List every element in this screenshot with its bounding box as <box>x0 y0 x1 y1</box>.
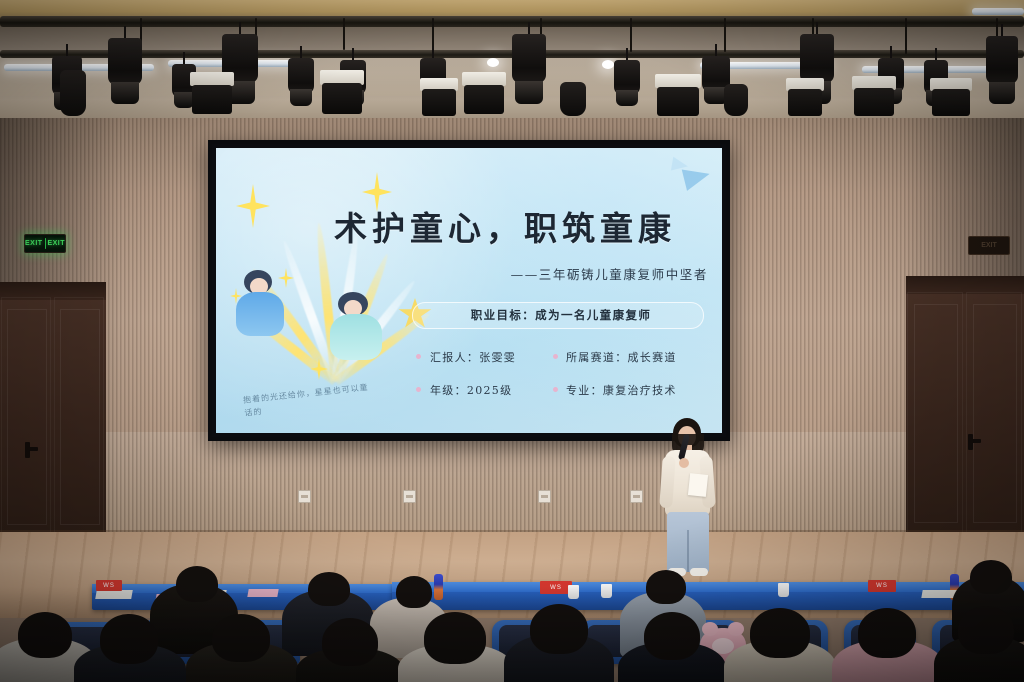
strip-light-5 <box>972 8 1024 15</box>
exit-sign-text: EXIT <box>981 242 997 249</box>
document-paper <box>95 590 133 599</box>
lower-wall-panel <box>0 432 1024 536</box>
exit-sign-text: EXIT <box>25 240 43 247</box>
audience-head <box>424 612 486 664</box>
running-man-icon <box>45 238 46 249</box>
exit-sign-right: EXIT <box>968 236 1010 255</box>
par-light <box>724 84 748 116</box>
paper-cup <box>601 584 612 598</box>
audience-head <box>100 614 158 664</box>
meta-presenter: 汇报人：张雯雯 <box>430 349 516 365</box>
child-illustration-right <box>326 292 388 366</box>
wall-outlet <box>298 490 311 503</box>
meta-major: 专业：康复治疗技术 <box>566 382 677 398</box>
audience-head <box>18 612 72 658</box>
audience-area: WS WS WS <box>0 556 1024 682</box>
hanging-cable <box>630 18 632 52</box>
bullet-dot <box>553 354 558 359</box>
projection-screen: 抱着的光还给你，星星也可以童话的 术护童心，职筑童康 ——三年砺铸儿童康复师中坚… <box>208 140 730 441</box>
audience-head <box>530 604 588 654</box>
exit-sign-left: EXIT EXIT <box>24 234 66 253</box>
fresnel-light <box>420 78 458 116</box>
par-light <box>560 82 586 116</box>
fresnel-light <box>462 72 506 114</box>
slide-subtitle: ——三年砺铸儿童康复师中坚者 <box>396 264 708 283</box>
audience-head <box>396 576 432 608</box>
downlight-2 <box>602 60 614 69</box>
presentation-slide: 抱着的光还给你，星星也可以童话的 术护童心，职筑童康 ——三年砺铸儿童康复师中坚… <box>216 148 722 433</box>
wall-outlet <box>538 490 551 503</box>
auditorium-scene: EXIT EXIT EXIT <box>0 0 1024 682</box>
meta-track: 所属赛道：成长赛道 <box>566 349 677 365</box>
name-card-red: WS <box>868 580 896 592</box>
fresnel-light <box>655 74 701 116</box>
ceiling <box>0 0 1024 122</box>
bullet-dot <box>553 387 558 392</box>
audience-head <box>646 570 686 604</box>
paper-cup <box>778 583 789 597</box>
stage-lamp <box>108 26 142 104</box>
name-card-red: WS <box>96 580 122 591</box>
fresnel-light <box>190 72 234 114</box>
career-goal-text: 职业目标：成为一名儿童康复师 <box>432 307 690 323</box>
fresnel-light <box>786 78 824 116</box>
slide-title: 术护童心，职筑童康 <box>300 202 710 250</box>
child-illustration-left <box>234 270 290 340</box>
downlight-1 <box>487 58 499 67</box>
audience-head <box>176 566 218 602</box>
audience-head <box>212 614 270 662</box>
par-light <box>60 70 86 116</box>
exit-sign-text: EXIT <box>47 240 65 247</box>
door-handle-right[interactable] <box>968 434 973 450</box>
wall-outlet <box>630 490 643 503</box>
door-right[interactable] <box>906 276 1024 538</box>
stage-lamp <box>614 48 640 106</box>
bullet-dot <box>416 387 421 392</box>
document-paper <box>247 589 278 597</box>
water-bottle <box>434 574 443 600</box>
audience-head <box>958 606 1014 654</box>
bullet-dot <box>416 354 421 359</box>
wall-outlet <box>403 490 416 503</box>
paper-plane-icon <box>671 157 689 174</box>
audience-head <box>644 612 700 660</box>
fresnel-light <box>930 78 972 116</box>
audience-head <box>322 618 378 666</box>
audience-head <box>750 608 810 658</box>
door-left[interactable] <box>0 282 106 540</box>
paper-cup <box>568 585 579 599</box>
presenter-notes <box>688 473 708 497</box>
presenter <box>655 418 721 578</box>
audience-head <box>858 608 916 658</box>
fresnel-light <box>320 70 364 114</box>
audience-head <box>970 560 1012 594</box>
hanging-cable <box>343 18 345 50</box>
stage-lamp <box>512 22 546 104</box>
meta-grade: 年级：2025级 <box>430 382 512 398</box>
stage-lamp <box>986 24 1018 104</box>
stage-lamp <box>288 46 314 106</box>
document-paper <box>921 590 956 598</box>
fresnel-light <box>852 76 896 116</box>
hanging-cable <box>905 18 907 54</box>
audience-head <box>308 572 350 606</box>
door-handle-left[interactable] <box>25 442 30 458</box>
